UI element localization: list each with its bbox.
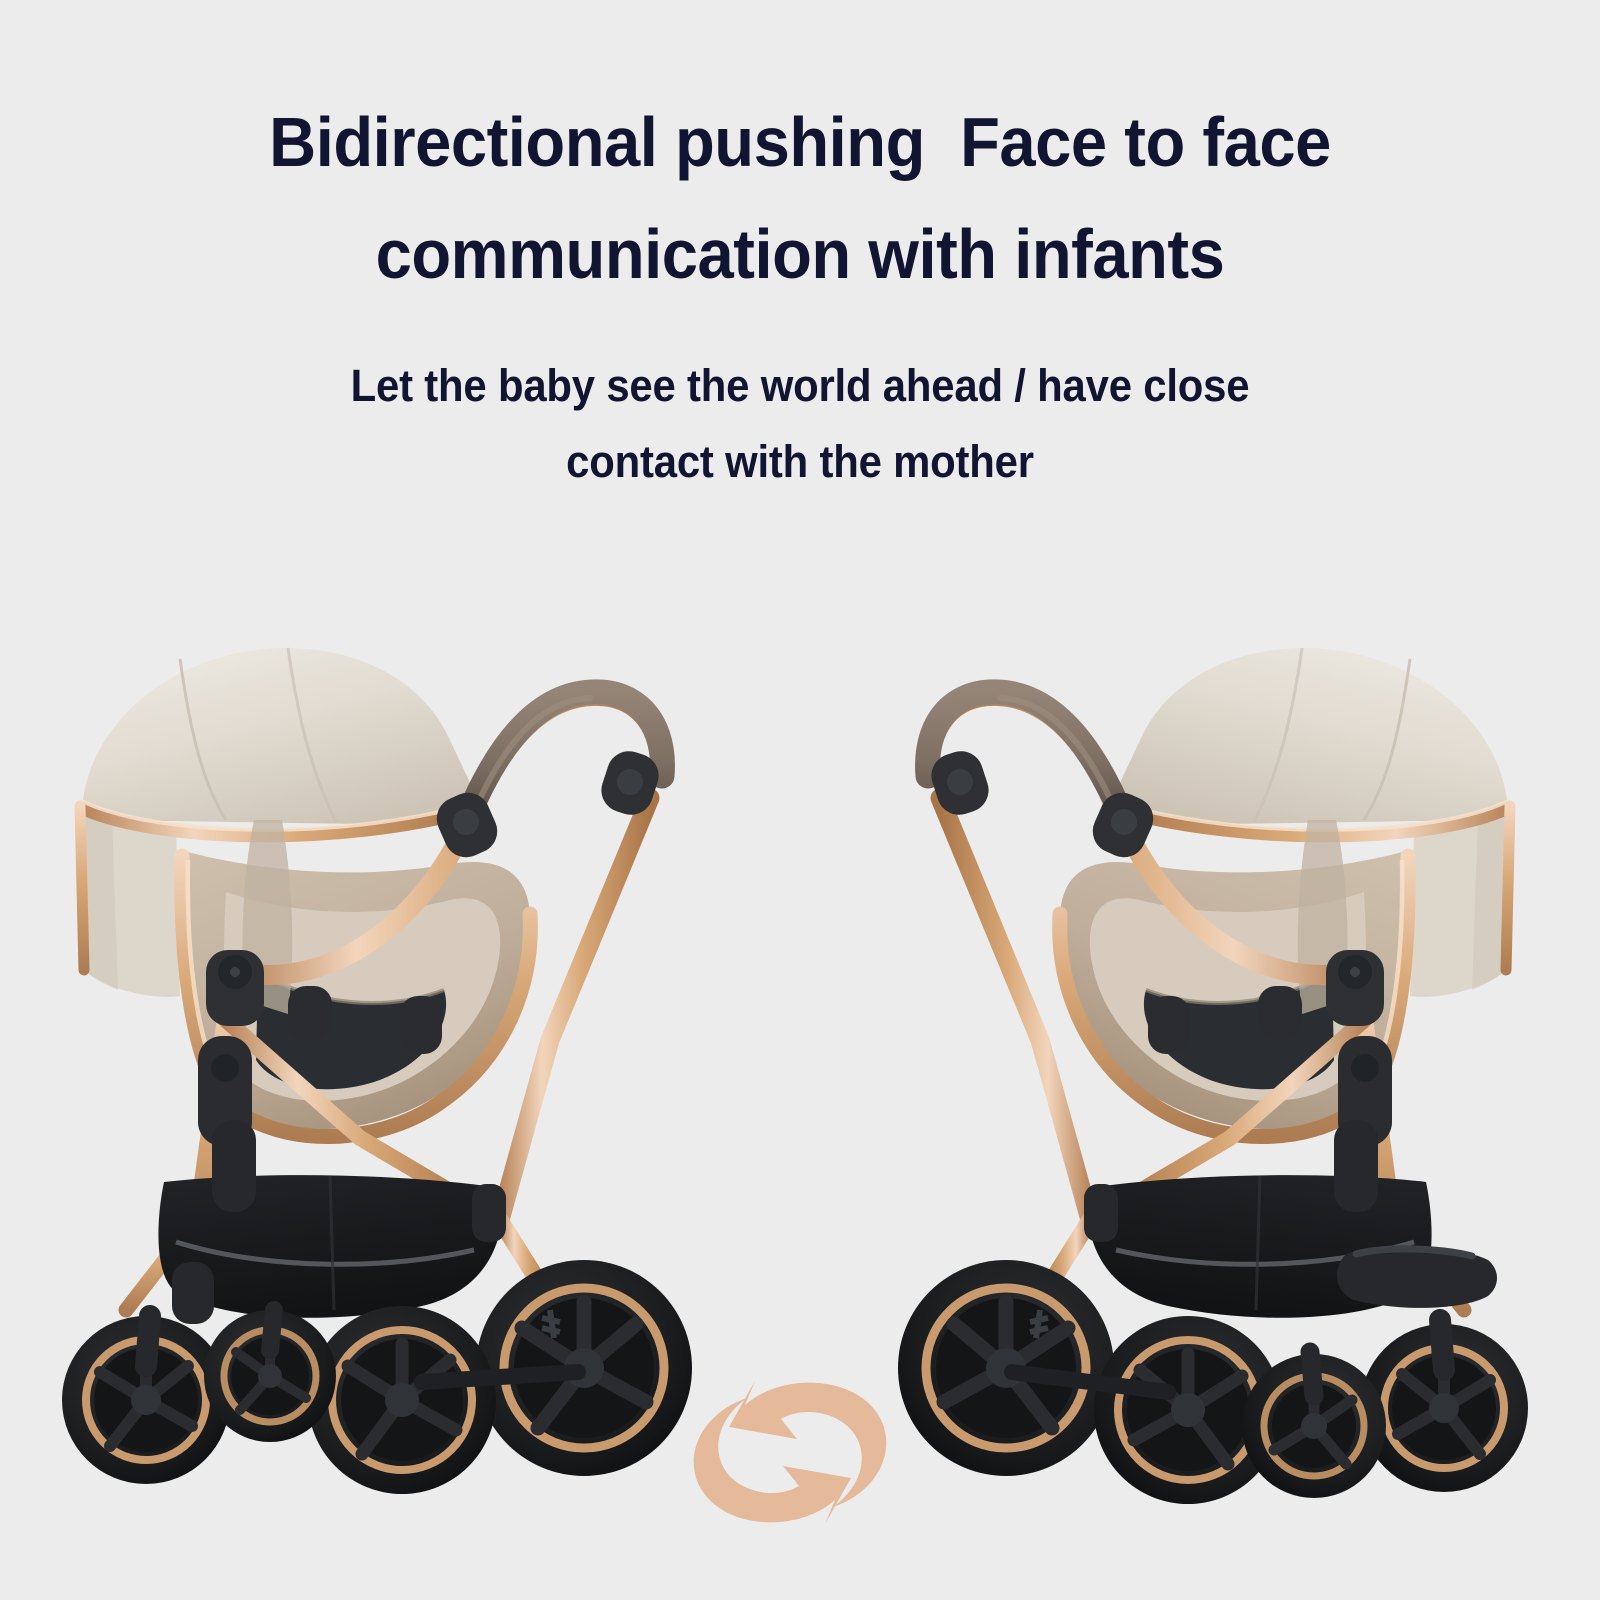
subtitle-line-1: Let the baby see the world ahead / have … <box>351 360 1250 411</box>
page-subtitle-line2: contact with the mother <box>56 424 1544 500</box>
page-subtitle: Let the baby see the world ahead / have … <box>56 348 1544 424</box>
rotate-swap-icon <box>685 1365 895 1540</box>
product-stage <box>0 520 1600 1520</box>
headline-line-1: Bidirectional pushing Face to face <box>269 103 1331 181</box>
stroller-image-forward-facing <box>30 520 730 1520</box>
wheel-rear-left <box>308 1306 496 1494</box>
stroller-image-parent-facing <box>860 520 1560 1520</box>
stroller-footrest <box>1337 1247 1497 1308</box>
page-headline-line2: communication with infants <box>56 198 1544 310</box>
headline-line-2: communication with infants <box>376 215 1225 293</box>
promo-text-block: Bidirectional pushing Face to face commu… <box>0 0 1600 500</box>
page-headline: Bidirectional pushing Face to face <box>56 86 1544 198</box>
subtitle-line-2: contact with the mother <box>566 436 1034 487</box>
